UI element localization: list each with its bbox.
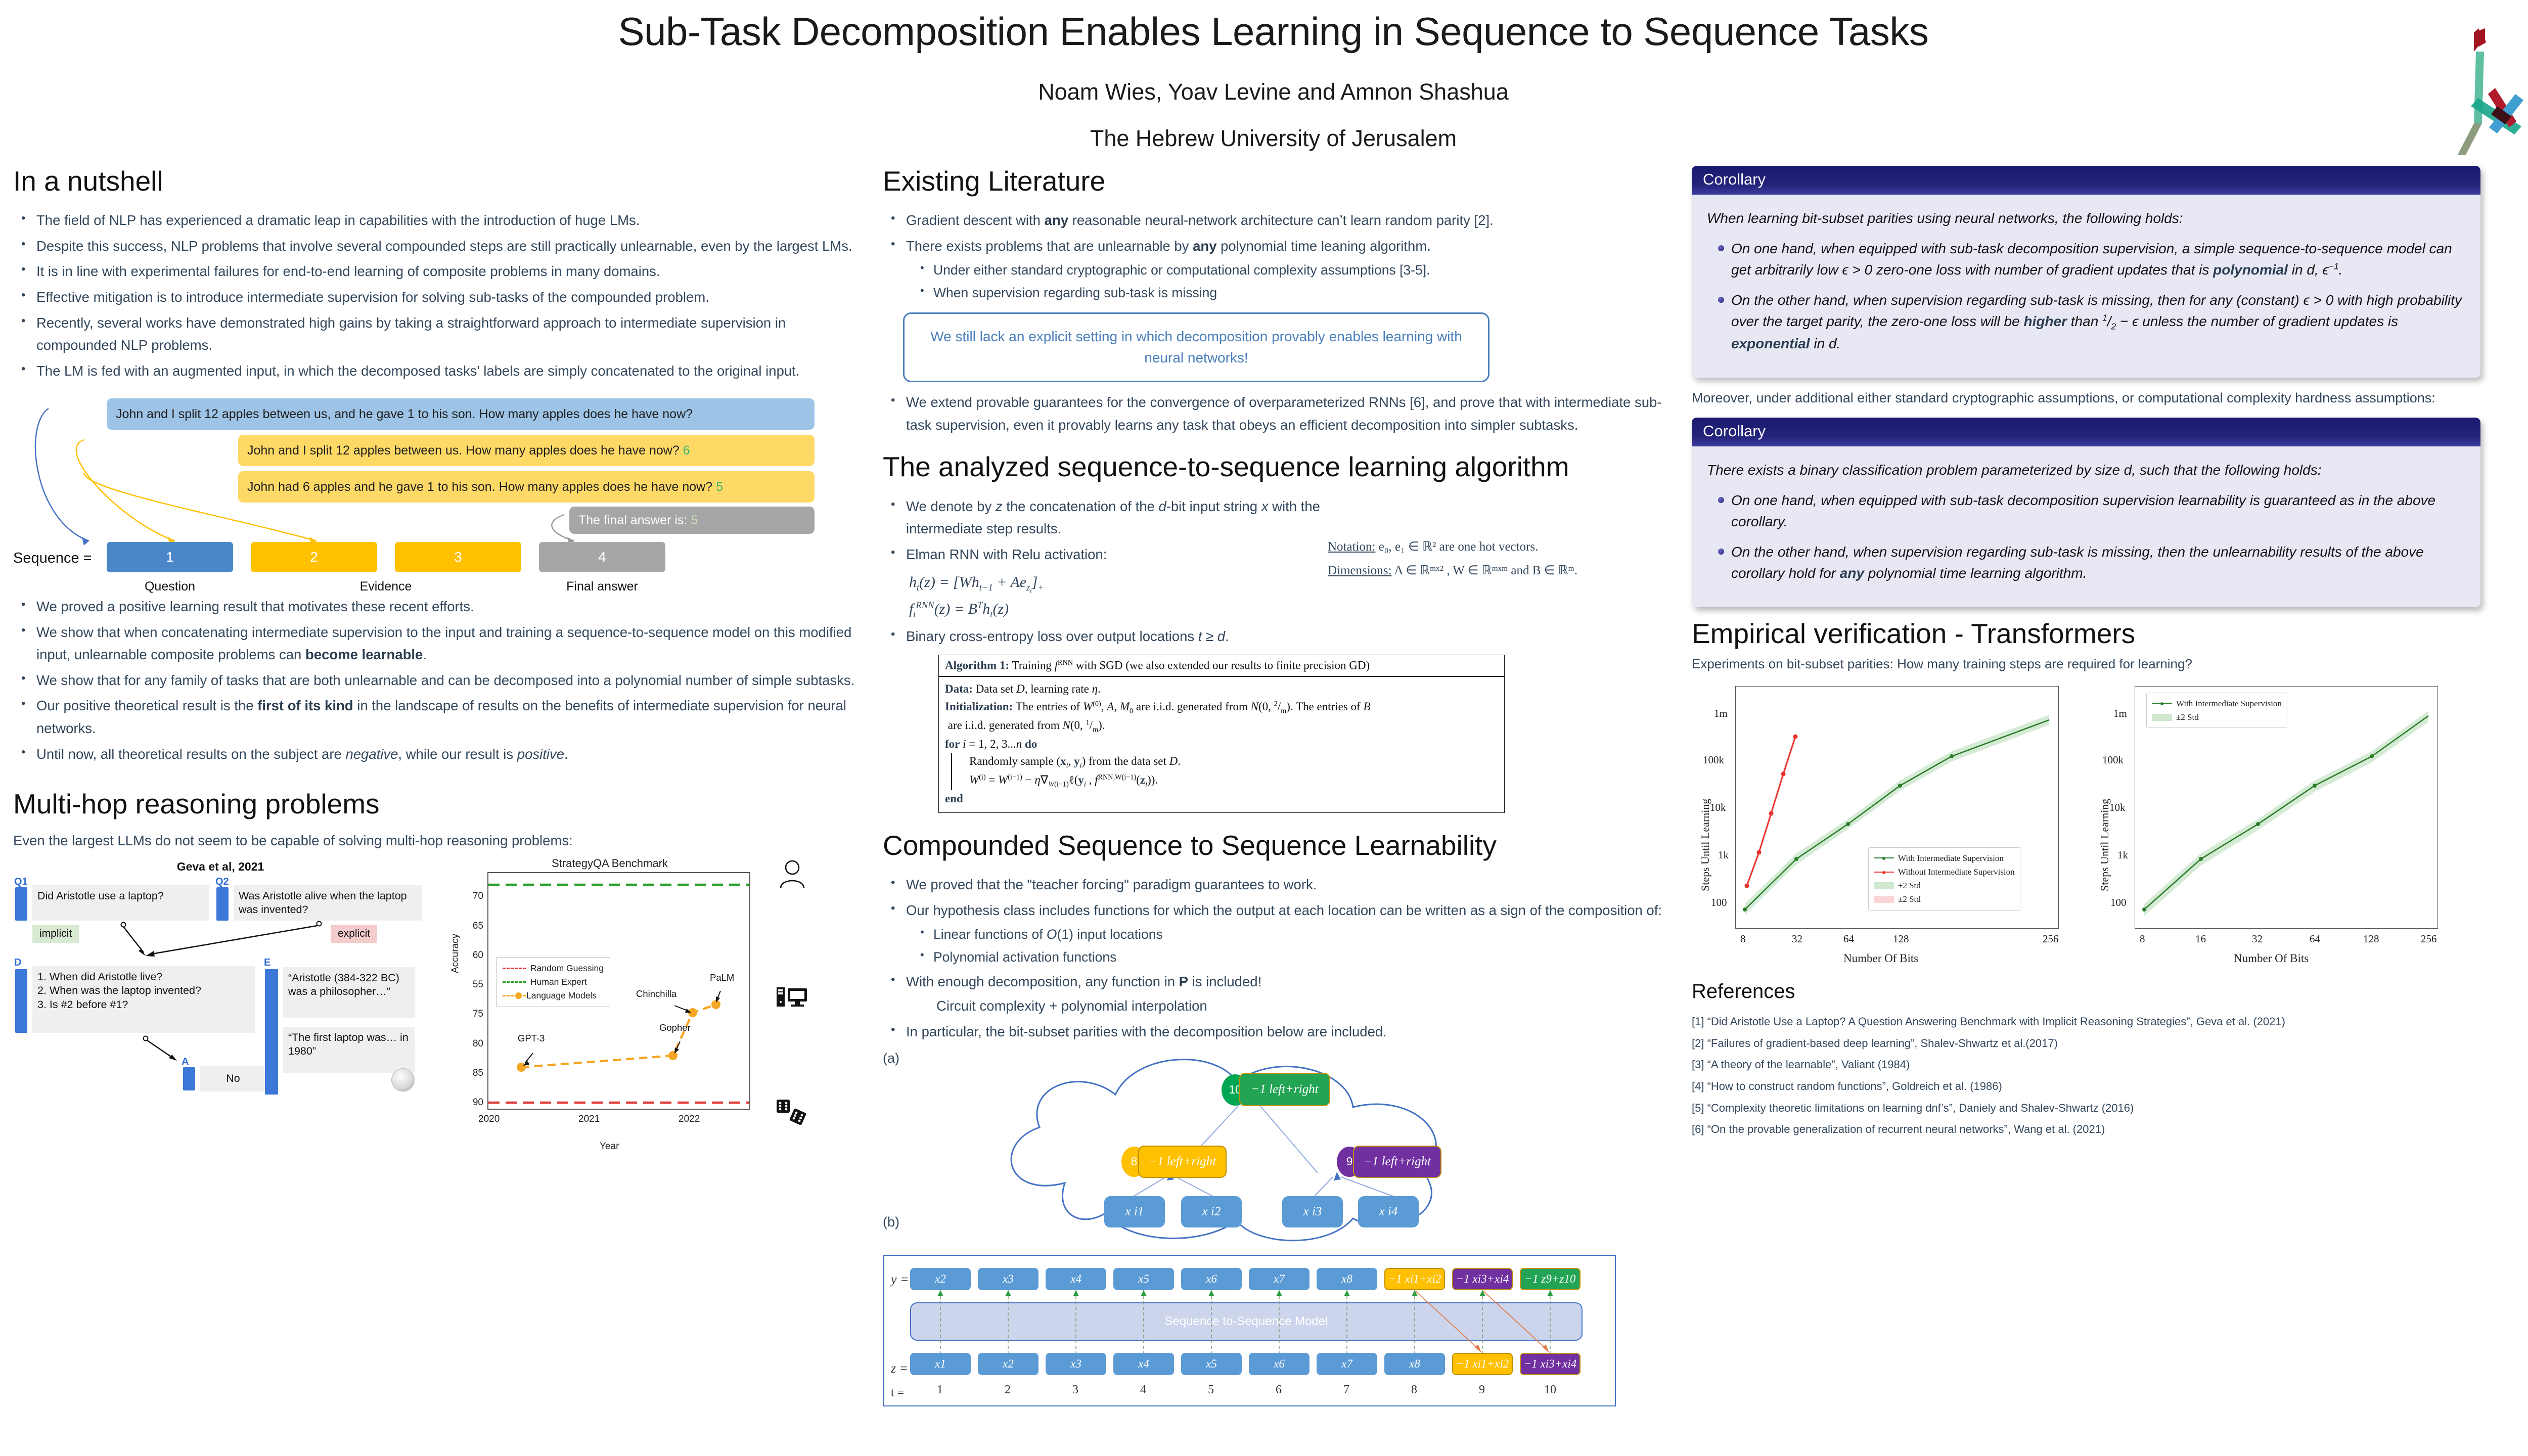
cloud-node-top: −1 left+right (1239, 1073, 1330, 1106)
list-item: With enough decomposition, any function … (904, 971, 1672, 1018)
chart-y-tick: 1k (1718, 849, 1729, 861)
algorithm-data-line: Data: Data set D, learning rate η. (945, 680, 1498, 698)
existing-literature-bullets: Gradient descent with any reasonable neu… (883, 209, 1672, 303)
list-item: Polynomial activation functions (933, 946, 1672, 968)
chart-x-tick: 2020 (478, 1114, 500, 1125)
legend-swatch-red-band (1874, 896, 1894, 903)
geva-box-d: 1. When did Aristotle live? 2. When was … (32, 966, 255, 1033)
chart-plot-area: With Intermediate Supervision Without In… (1735, 686, 2059, 929)
list-item: Effective mitigation is to introduce int… (34, 286, 863, 309)
chart-x-tick: 256 (2043, 933, 2059, 945)
list-item: Until now, all theoretical results on th… (34, 743, 863, 766)
chart-legend: Random Guessing Human Expert Language Mo… (496, 957, 610, 1007)
algorithm-end-line: end (945, 790, 1498, 808)
y-cell-8: −1 xi1+xi2 (1384, 1268, 1445, 1290)
chart-x-tick: 256 (2421, 933, 2437, 945)
chart-x-tick: 8 (2140, 933, 2145, 945)
corollary-bullets-1: On one hand, when equipped with sub-task… (1707, 238, 2465, 354)
corollary-header-2: Corollary (1692, 418, 2480, 446)
subfigure-label-b: (b) (883, 1214, 899, 1230)
seq2seq-z-label: z = (891, 1361, 908, 1376)
affiliation: The Hebrew University of Jerusalem (0, 125, 2528, 152)
geva-bar-q2 (216, 887, 229, 921)
dimensions-label: Dimensions: (1328, 564, 1391, 577)
legend-swatch-human-expert (503, 981, 526, 983)
legend-marker-dot (515, 992, 522, 999)
list-item: Despite this success, NLP problems that … (34, 235, 863, 258)
list-item: We proved a positive learning result tha… (34, 596, 863, 618)
chart-x-tick: 2022 (679, 1114, 700, 1125)
apples-evidence-text-2: John had 6 apples and he gave 1 to his s… (247, 480, 712, 494)
decomposition-cloud-figure: (a) 10 −1 left+right 8 −1 left+right 9 −… (883, 1046, 1651, 1254)
corollary-header-1: Corollary (1692, 166, 2480, 195)
cloud-node-right: −1 left+right (1353, 1146, 1441, 1178)
section-heading-empirical: Empirical verification - Transformers (1692, 618, 2480, 649)
list-item: Gradient descent with any reasonable neu… (904, 209, 1672, 232)
geva-box-q2: Was Aristotle alive when the laptop was … (234, 885, 422, 921)
legend-swatch-with-supervision (2152, 703, 2172, 704)
apples-evidence-box-2: John had 6 apples and he gave 1 to his s… (238, 471, 815, 503)
section-heading-learnability: Compounded Sequence to Sequence Learnabi… (883, 830, 1672, 861)
reference-item: [1] “Did Aristotle Use a Laptop? A Quest… (1692, 1014, 2480, 1029)
hebrew-university-logo-icon (2434, 22, 2525, 164)
geva-tag-e: E (264, 957, 270, 969)
list-item: It is in line with experimental failures… (34, 260, 863, 283)
reference-item: [6] “On the provable generalization of r… (1692, 1122, 2480, 1137)
y-cell-5: x6 (1181, 1268, 1242, 1290)
chart-y-tick: 100k (2102, 754, 2124, 766)
result-bullet-list: We proved a positive learning result tha… (13, 596, 863, 765)
chart-y-axis-label: Accuracy (450, 933, 461, 973)
list-item: On the other hand, when supervision rega… (1731, 541, 2465, 584)
geva-box-e1: “Aristotle (384-322 BC) was a philosophe… (283, 967, 415, 1018)
z-cell-1: x1 (910, 1353, 971, 1375)
apples-evidence-answer-1: 6 (683, 443, 690, 458)
apples-decomposition-diagram: John and I split 12 apples between us, a… (13, 389, 842, 586)
chart-y-tick: 70 (460, 891, 483, 902)
z-cell-9: −1 xi1+xi2 (1452, 1353, 1513, 1375)
z-cell-4: x4 (1113, 1353, 1174, 1375)
reference-item: [3] “A theory of the learnable”, Valiant… (1692, 1057, 2480, 1072)
y-cell-9: −1 xi3+xi4 (1452, 1268, 1513, 1290)
chart-y-tick: 100 (1711, 896, 1727, 909)
chart-y-tick: 1k (2117, 849, 2128, 861)
chart-y-tick: 100k (1703, 754, 1724, 766)
seq2seq-y-label: y = (891, 1272, 909, 1287)
chart-y-tick: 55 (460, 979, 483, 990)
apples-final-text: The final answer is: (578, 513, 687, 528)
chart-x-tick: 64 (1843, 933, 1854, 945)
list-item: We extend provable guarantees for the co… (904, 391, 1672, 436)
wikipedia-globe-icon (391, 1068, 415, 1091)
geva-bar-a (183, 1067, 195, 1090)
chart-legend: With Intermediate Supervision ±2 Std (2146, 693, 2287, 728)
legend-item: With Intermediate Supervision (2152, 697, 2282, 710)
geva-chip-explicit: explicit (331, 925, 377, 943)
chart-y-tick: 10k (2109, 801, 2126, 814)
person-icon (776, 859, 809, 890)
notation-label: Notation: (1328, 540, 1375, 554)
z-cell-7: x7 (1317, 1353, 1377, 1375)
z-cell-5: x5 (1181, 1353, 1242, 1375)
list-item: In particular, the bit-subset parities w… (904, 1021, 1672, 1043)
geva-tag-q2: Q2 (215, 876, 229, 888)
column-middle: Existing Literature Gradient descent wit… (883, 166, 1672, 1406)
t-value-3: 3 (1072, 1383, 1078, 1397)
chart-y-tick: 90 (460, 1097, 483, 1108)
list-item: We proved that the "teacher forcing" par… (904, 874, 1672, 896)
geva-bar-d (15, 969, 27, 1033)
algorithm-body: Data: Data set D, learning rate η. Initi… (939, 677, 1504, 812)
y-cell-6: x7 (1249, 1268, 1310, 1290)
author-list: Noam Wies, Yoav Levine and Amnon Shashua (0, 79, 2528, 105)
chart-legend: With Intermediate Supervision Without In… (1868, 847, 2020, 911)
empirical-chart-right: Steps Until Learning Number Of Bits With (2091, 679, 2445, 972)
sequence-token-1: 1 (107, 542, 233, 572)
geva-tag-a: A (182, 1056, 189, 1068)
legend-item: With Intermediate Supervision (1874, 851, 2015, 865)
list-item: Our positive theoretical result is the f… (34, 695, 863, 740)
list-item: Our hypothesis class includes functions … (904, 899, 1672, 968)
legend-swatch-without-supervision (1874, 872, 1894, 873)
nutshell-bullet-list: The field of NLP has experienced a drama… (13, 209, 863, 382)
algorithm-bullets: We denote by z the concatenation of the … (883, 495, 1328, 566)
legend-label: ±2 Std (1898, 892, 1921, 906)
t-value-4: 4 (1140, 1383, 1146, 1397)
desktop-computer-icon (776, 985, 809, 1008)
geva-bar-e (265, 969, 278, 1095)
chart-annotation-chinchilla: Chinchilla (636, 988, 676, 999)
list-item: Elman RNN with Relu activation: (904, 543, 1328, 566)
legend-item: Language Models (503, 989, 604, 1003)
loss-bullet-list: Binary cross-entropy loss over output lo… (883, 625, 1328, 648)
cloud-leaf-2: x i2 (1181, 1196, 1242, 1227)
y-cell-1: x2 (910, 1268, 971, 1290)
list-item: On the other hand, when supervision rega… (1731, 290, 2465, 354)
y-cell-2: x3 (978, 1268, 1039, 1290)
strategyqa-chart: StrategyQA Benchmark Accuracy Year (448, 857, 772, 1160)
chart-x-tick: 128 (1893, 933, 1909, 945)
t-value-1: 1 (937, 1383, 943, 1397)
side-icon-group (776, 857, 811, 1125)
legend-label: With Intermediate Supervision (2176, 697, 2282, 710)
apples-final-answer: 5 (691, 513, 698, 528)
sequence-caption-evidence: Evidence (323, 579, 449, 594)
rnn-equations: ht(z) = [Wht−1 + Aezt]+ ftRNN(z) = BTht(… (909, 569, 1328, 623)
learnability-sub-bullets: Linear functions of O(1) input locations… (906, 924, 1672, 968)
empirical-charts: Steps Until Learning Number Of Bits (1692, 679, 2480, 972)
list-item: Linear functions of O(1) input locations (933, 924, 1672, 945)
chart-y-tick: 1m (1714, 707, 1728, 720)
chart-annotation-palm: PaLM (710, 972, 734, 983)
list-item: There exists problems that are unlearnab… (904, 235, 1672, 303)
list-item: On one hand, when equipped with sub-task… (1731, 490, 2465, 532)
y-cell-7: x8 (1317, 1268, 1377, 1290)
geva-box-q1: Did Aristotle use a laptop? (32, 885, 209, 921)
list-item: Under either standard cryptographic or c… (933, 259, 1672, 281)
cloud-leaf-3: x i3 (1282, 1196, 1343, 1227)
apples-evidence-answer-2: 5 (716, 480, 723, 494)
geva-box-a: No (200, 1066, 266, 1091)
learnability-subnote: Circuit complexity + polynomial interpol… (936, 995, 1672, 1018)
seq2seq-t-label: t = (891, 1386, 904, 1400)
algorithm-box: Algorithm 1: Training fRNN with SGD (we … (938, 655, 1505, 812)
moreover-text: Moreover, under additional either standa… (1692, 388, 2480, 409)
apples-evidence-box-1: John and I split 12 apples between us. H… (238, 435, 815, 466)
corollary-intro-2: There exists a binary classification pro… (1707, 460, 2465, 481)
corollary-box-2: Corollary There exists a binary classifi… (1692, 418, 2480, 607)
z-cell-3: x3 (1046, 1353, 1106, 1375)
list-item: On one hand, when equipped with sub-task… (1731, 238, 2465, 281)
legend-item: Random Guessing (503, 962, 604, 975)
t-value-10: 10 (1544, 1383, 1556, 1397)
geva-tag-q1: Q1 (14, 876, 28, 888)
list-item: We show that when concatenating intermed… (34, 621, 863, 666)
y-cell-4: x5 (1113, 1268, 1174, 1290)
cloud-leaf-1: x i1 (1104, 1196, 1165, 1227)
list-item: Recently, several works have demonstrate… (34, 312, 863, 357)
chart-y-tick: 1m (2113, 707, 2127, 720)
geva-bar-q1 (15, 887, 27, 921)
geva-tag-d: D (14, 957, 21, 969)
section-heading-algorithm: The analyzed sequence-to-sequence learni… (883, 451, 1672, 482)
algorithm-init-line: Initialization: The entries of W(0), A, … (945, 698, 1498, 736)
cloud-node-left: −1 left+right (1138, 1146, 1227, 1178)
list-item: The LM is fed with an augmented input, i… (34, 360, 863, 383)
dimensions-line: Dimensions: A ∈ ℝᵐˣ² , W ∈ ℝᵐˣᵐ and B ∈ … (1328, 559, 1661, 583)
chart-x-axis-label: Number Of Bits (2234, 952, 2309, 965)
learnability-bullets: We proved that the "teacher forcing" par… (883, 874, 1672, 1043)
notation-line: Notation: e₀, e₁ ∈ ℝ² are one hot vector… (1328, 535, 1661, 559)
sequence-label: Sequence = (13, 550, 92, 567)
legend-label: ±2 Std (1898, 879, 1921, 892)
apples-evidence-text-1: John and I split 12 apples between us. H… (247, 443, 680, 458)
z-cell-2: x2 (978, 1353, 1039, 1375)
sequence-token-3: 3 (395, 542, 521, 572)
t-value-8: 8 (1411, 1383, 1417, 1397)
column-right: Corollary When learning bit-subset parit… (1692, 166, 2480, 1144)
t-value-6: 6 (1276, 1383, 1282, 1397)
corollary-body-1: When learning bit-subset parities using … (1692, 195, 2480, 378)
chart-x-axis-label: Year (600, 1141, 619, 1152)
legend-label: Random Guessing (530, 962, 604, 975)
legend-item: Human Expert (503, 975, 604, 989)
subfigure-label-a: (a) (883, 1051, 899, 1066)
chart-y-tick: 10k (1710, 801, 1726, 814)
chart-x-tick: 16 (2195, 933, 2206, 945)
legend-swatch-language-models (503, 995, 526, 996)
chart-x-axis-label: Number Of Bits (1843, 952, 1918, 965)
chart-x-tick: 32 (1792, 933, 1802, 945)
algorithm-loop-body: Randomly sample (xi, yi) from the data s… (951, 753, 1498, 790)
list-item: The field of NLP has experienced a drama… (34, 209, 863, 232)
reference-item: [5] “Complexity theoretic limitations on… (1692, 1101, 2480, 1116)
sequence-token-2: 2 (251, 542, 377, 572)
chart-x-tick: 32 (2252, 933, 2263, 945)
list-item: We show that for any family of tasks tha… (34, 669, 863, 692)
page-title: Sub-Task Decomposition Enables Learning … (0, 11, 2528, 53)
legend-swatch-with-supervision (1874, 857, 1894, 858)
geva-figure: Geva et al, 2021 Q1 Did Aristotle use a … (13, 860, 428, 1189)
legend-label: ±2 Std (2176, 710, 2199, 724)
legend-swatch-green-band (2152, 714, 2172, 721)
y-cell-10: −1 z9+z10 (1520, 1268, 1581, 1290)
reference-item: [4] “How to construct random functions”,… (1692, 1079, 2480, 1094)
corollary-body-2: There exists a binary classification pro… (1692, 446, 2480, 607)
chart-annotation-gopher: Gopher (659, 1022, 691, 1033)
z-cell-8: x8 (1384, 1353, 1445, 1375)
notation-panel: Notation: e₀, e₁ ∈ ℝ² are one hot vector… (1328, 495, 1661, 583)
chart-x-tick: 8 (1740, 933, 1746, 945)
empirical-subtitle: Experiments on bit-subset parities: How … (1692, 656, 2480, 672)
apples-final-answer-box: The final answer is: 5 (569, 507, 815, 534)
sequence-token-4: 4 (539, 542, 665, 572)
legend-label: Language Models (526, 989, 597, 1003)
multihop-intro-text: Even the largest LLMs do not seem to be … (13, 833, 863, 849)
t-value-5: 5 (1208, 1383, 1214, 1397)
chart-x-tick: 128 (2363, 933, 2379, 945)
legend-label: Without Intermediate Supervision (1898, 865, 2015, 879)
t-value-9: 9 (1479, 1383, 1485, 1397)
y-cell-3: x4 (1046, 1268, 1106, 1290)
corollary-bullets-2: On one hand, when equipped with sub-task… (1707, 490, 2465, 584)
list-item: When supervision regarding sub-task is m… (933, 282, 1672, 303)
list-item: Binary cross-entropy loss over output lo… (904, 625, 1328, 648)
section-heading-existing-literature: Existing Literature (883, 166, 1672, 197)
algorithm-title: Algorithm 1: Training fRNN with SGD (we … (939, 655, 1504, 677)
chart-annotation-gpt3: GPT-3 (518, 1033, 545, 1044)
chart-y-tick: 75 (460, 1009, 483, 1020)
equation-h: ht(z) = [Wht−1 + Aezt]+ (909, 569, 1328, 597)
legend-label: With Intermediate Supervision (1898, 851, 2004, 865)
chart-title: StrategyQA Benchmark (448, 857, 772, 870)
seq2seq-figure: y = z = t = x2 x3 x4 x5 x6 x7 x8 −1 xi1+… (883, 1255, 1616, 1406)
chart-y-tick: 60 (460, 950, 483, 961)
seq2seq-model-block: Sequence to-Sequence Model (910, 1302, 1583, 1341)
chart-x-tick: 2021 (578, 1114, 600, 1125)
existing-sub-bullets: Under either standard cryptographic or c… (906, 259, 1672, 303)
corollary-intro-1: When learning bit-subset parities using … (1707, 208, 2465, 229)
corollary-box-1: Corollary When learning bit-subset parit… (1692, 166, 2480, 378)
poster-header: Sub-Task Decomposition Enables Learning … (0, 0, 2528, 152)
dice-icon (776, 1099, 809, 1125)
empirical-chart-left: Steps Until Learning Number Of Bits (1692, 679, 2066, 972)
algorithm-update-line: W(i) = W(i−1) − η∇W(i−1)ℓ(yi , fRNN,W(i−… (969, 771, 1498, 790)
notation-text: e₀, e₁ ∈ ℝ² are one hot vectors. (1379, 540, 1539, 554)
chart-y-tick: 100 (2110, 896, 2127, 909)
dimensions-text: A ∈ ℝᵐˣ² , W ∈ ℝᵐˣᵐ and B ∈ ℝᵐ. (1394, 564, 1577, 577)
column-left: In a nutshell The field of NLP has exper… (13, 166, 863, 1189)
reference-item: [2] “Failures of gradient-based deep lea… (1692, 1036, 2480, 1051)
section-heading-multihop: Multi-hop reasoning problems (13, 789, 863, 820)
algorithm-sample-line: Randomly sample (xi, yi) from the data s… (969, 753, 1498, 771)
list-item: We denote by z the concatenation of the … (904, 495, 1328, 540)
sequence-caption-question: Question (107, 579, 233, 594)
legend-item: ±2 Std (1874, 892, 2015, 906)
chart-plot-area: With Intermediate Supervision ±2 Std (2135, 686, 2438, 929)
geva-chip-implicit: implicit (32, 925, 79, 943)
chart-y-tick: 85 (460, 1068, 483, 1079)
legend-item: ±2 Std (1874, 879, 2015, 892)
references-section: References [1] “Did Aristotle Use a Lapt… (1692, 980, 2480, 1137)
z-cell-10: −1 xi3+xi4 (1520, 1353, 1581, 1375)
sequence-caption-final: Final answer (539, 579, 665, 594)
legend-item: ±2 Std (2152, 710, 2282, 724)
t-value-7: 7 (1343, 1383, 1349, 1397)
existing-last-bullet-list: We extend provable guarantees for the co… (883, 391, 1672, 436)
t-value-2: 2 (1005, 1383, 1011, 1397)
geva-box-e2: “The first laptop was… in 1980” (283, 1027, 415, 1073)
z-cell-6: x6 (1249, 1353, 1310, 1375)
chart-y-tick: 65 (460, 921, 483, 932)
algorithm-for-line: for i = 1, 2, 3...n do (945, 736, 1498, 753)
cloud-leaf-4: x i4 (1358, 1196, 1419, 1227)
apples-question-box: John and I split 12 apples between us, a… (107, 398, 815, 430)
section-heading-references: References (1692, 980, 2480, 1003)
chart-x-tick: 64 (2310, 933, 2320, 945)
equation-f: ftRNN(z) = BTht(z) (909, 596, 1328, 623)
legend-label: Human Expert (530, 975, 587, 989)
legend-swatch-random-guessing (503, 968, 526, 969)
legend-swatch-green-band (1874, 882, 1894, 889)
section-heading-nutshell: In a nutshell (13, 166, 863, 197)
callout-box: We still lack an explicit setting in whi… (903, 312, 1489, 382)
legend-item: Without Intermediate Supervision (1874, 865, 2015, 879)
chart-y-tick: 80 (460, 1038, 483, 1050)
